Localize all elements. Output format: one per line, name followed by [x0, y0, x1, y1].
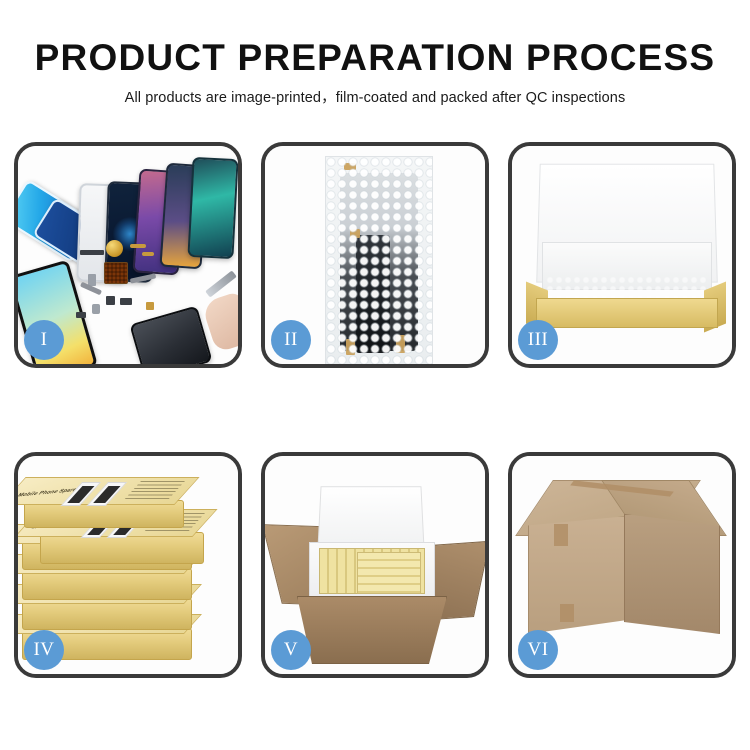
process-step-2: II: [261, 142, 489, 368]
carton-tape-tab-bottom: [560, 604, 574, 622]
stacked-box-labelled: Mobile Phone Spare Parts: [40, 532, 204, 564]
part-speaker-icon: [80, 250, 104, 255]
header: PRODUCT PREPARATION PROCESS All products…: [0, 36, 750, 108]
process-step-3: III: [508, 142, 736, 368]
step-badge-1: I: [24, 320, 64, 360]
bubble-wrap-bag: [325, 156, 433, 366]
step-badge-6: VI: [518, 630, 558, 670]
poster-root: PRODUCT PREPARATION PROCESS All products…: [0, 0, 750, 750]
step-badge-5: V: [271, 630, 311, 670]
stacked-box: [22, 598, 192, 630]
stacked-box: [22, 568, 192, 600]
step-badge-3: III: [518, 320, 558, 360]
process-grid: I II: [14, 142, 736, 678]
step-badge-4: IV: [24, 630, 64, 670]
carton-front-face: [528, 516, 628, 634]
logic-board-chip-icon: [104, 262, 128, 284]
box-print-spec-lines: [125, 481, 185, 499]
part-camera-icon: [106, 296, 115, 305]
phone-teal-display-icon: [187, 157, 238, 259]
part-screw-pack-icon: [92, 304, 100, 314]
part-button-icon: [120, 298, 132, 305]
box-top-face: Mobile Phone Spare Parts: [14, 477, 200, 505]
stacked-box-labelled: Mobile Phone Spare Parts: [24, 500, 184, 528]
process-step-6: VI: [508, 452, 736, 678]
carton-body: [297, 596, 447, 664]
part-flex-gold-icon: [130, 244, 146, 248]
step-badge-2: II: [271, 320, 311, 360]
process-step-1: I: [14, 142, 242, 368]
box-front-yellow: [536, 298, 718, 328]
part-bracket-icon: [76, 312, 86, 318]
page-subtitle: All products are image-printed，film-coat…: [0, 89, 750, 108]
yellow-boxes-row-2: [357, 552, 421, 594]
part-connector-icon: [142, 252, 154, 256]
phone-label-screen: [93, 486, 120, 503]
process-step-5: V: [261, 452, 489, 678]
bubble-texture: [326, 157, 432, 365]
part-gold-chip-icon: [146, 302, 154, 310]
vibration-motor-icon: [106, 240, 123, 257]
phone-rear-housing-icon: [129, 305, 212, 368]
process-step-4: Mobile Phone Spare Parts Mobile Phone Sp…: [14, 452, 242, 678]
page-title: PRODUCT PREPARATION PROCESS: [0, 36, 750, 80]
carton-tape-tab-top: [554, 524, 568, 546]
carton-side-face: [624, 514, 720, 634]
